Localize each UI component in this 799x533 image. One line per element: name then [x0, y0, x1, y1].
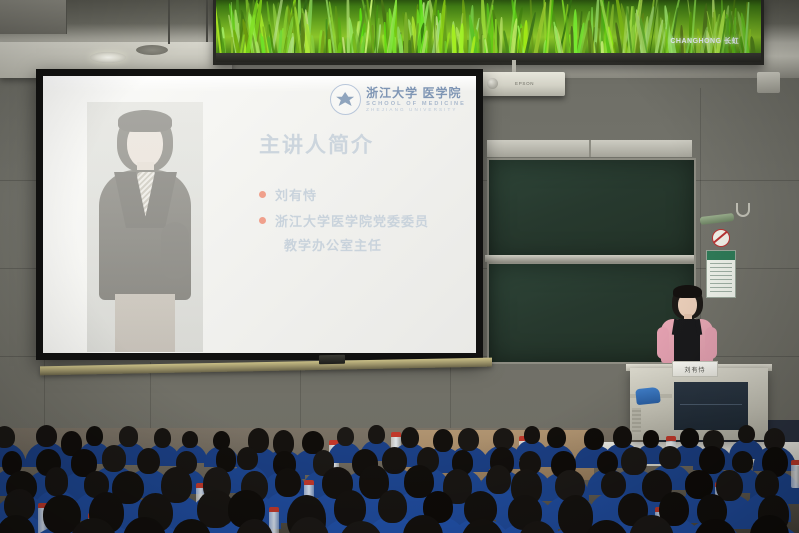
water-bottle — [791, 464, 799, 489]
blackboard-upper — [487, 158, 696, 262]
grass-blade — [346, 0, 350, 53]
speaker-portrait-photo — [87, 102, 203, 352]
audience-member-head — [433, 429, 453, 453]
portrait-washout-overlay — [87, 102, 203, 352]
wall-speaker — [757, 72, 780, 93]
name-card-text: 刘有恃 — [684, 365, 705, 374]
bullet-dot-icon — [259, 217, 266, 224]
slide-title: 主讲人简介 — [259, 129, 374, 159]
audience-member-head — [119, 426, 139, 447]
audience-member-head — [154, 428, 171, 448]
audience-member-head — [613, 426, 633, 449]
projector-brand-label: EPSON — [515, 81, 534, 86]
bottle-cap — [791, 460, 799, 465]
tv-brand-label: CHANGHONG 长虹 — [670, 36, 739, 46]
board-divider — [589, 140, 591, 157]
ceiling-duct — [0, 0, 67, 34]
presenter-fringe — [673, 285, 702, 298]
audience-member-head — [524, 426, 540, 444]
wall-hook-icon — [736, 203, 750, 217]
grass-blade — [428, 19, 432, 53]
slide-bullet-1: 刘有恃 — [259, 186, 317, 205]
grass-blade — [444, 41, 447, 53]
presentation-slide[interactable]: 浙江大学 医学院 SCHOOL OF MEDICINE ZHEJIANG UNI… — [43, 76, 476, 353]
audience-member-head — [755, 470, 779, 498]
blackboard-eraser — [319, 355, 345, 364]
podium-screen-line — [680, 404, 742, 405]
notice-board-header — [707, 251, 735, 260]
audience-member-head — [659, 446, 682, 470]
blackboard-rail — [485, 255, 694, 262]
slide-bullet-text: 教学办公室主任 — [284, 236, 382, 255]
audience-member-head — [137, 448, 160, 475]
audience-member-head — [86, 426, 103, 446]
zju-emblem-icon — [330, 84, 361, 115]
ceiling-rod — [206, 0, 208, 42]
audience-member-head — [401, 427, 419, 449]
zju-emblem-glyph — [336, 92, 354, 106]
audience-member-head — [45, 467, 69, 496]
audience-member-head — [36, 425, 57, 447]
audience-member-head — [584, 428, 604, 449]
audience-member-head — [547, 427, 566, 448]
audience-member-head — [643, 430, 660, 448]
audience-member-head — [378, 490, 407, 523]
zju-school-of-medicine-logo: 浙江大学 医学院 SCHOOL OF MEDICINE ZHEJIANG UNI… — [330, 84, 466, 115]
audience-member-head — [732, 451, 753, 473]
audience-member-head — [382, 447, 407, 474]
slide-bullet-2: 浙江大学医学院党委委员 — [259, 212, 429, 231]
audience-member-head — [458, 428, 478, 451]
grass-blade — [494, 19, 496, 53]
logo-chinese-text: 浙江大学 医学院 — [366, 87, 466, 100]
audience-member-head — [621, 447, 647, 474]
bottle-cap — [391, 432, 401, 437]
grass-blade — [404, 12, 408, 53]
audience-member-head — [237, 447, 258, 470]
slide-bullet-3: 教学办公室主任 — [284, 236, 382, 255]
slide-bullet-text: 刘有恃 — [275, 186, 317, 205]
audience-member-head — [102, 445, 127, 471]
audience-member-head — [486, 465, 510, 495]
bottle-cap — [269, 507, 279, 512]
bullet-dot-icon — [259, 191, 266, 198]
bottle-cap — [304, 480, 314, 485]
wall-television: CHANGHONG 长虹 — [213, 0, 764, 65]
blue-bag — [635, 387, 661, 405]
logo-english-line1: SCHOOL OF MEDICINE — [366, 101, 466, 107]
projector-lens-icon — [487, 78, 498, 89]
podium-name-card: 刘有恃 — [672, 361, 718, 377]
logo-english-line2: ZHEJIANG UNIVERSITY — [366, 107, 466, 112]
tv-bezel — [216, 53, 761, 62]
audience-member-head — [182, 431, 198, 448]
audience-rows — [0, 410, 799, 533]
ceiling-rod — [168, 0, 170, 44]
audience-member-head — [275, 468, 302, 497]
audience-member-head — [368, 425, 384, 444]
presenter-arm-left — [657, 327, 669, 359]
grass-blade — [408, 40, 412, 53]
slide-bullet-text: 浙江大学医学院党委委员 — [275, 212, 429, 231]
downlight-icon — [90, 52, 126, 63]
downlight-icon — [136, 45, 168, 55]
audience-member-head — [337, 427, 354, 446]
audience-member-head — [558, 495, 593, 533]
ceiling-projector: EPSON — [481, 72, 565, 96]
lecture-hall-scene: CHANGHONG 长虹 4K Ultra HD EPSON — [0, 0, 799, 533]
audience-member-head — [601, 471, 626, 499]
grass-blade — [750, 36, 757, 53]
no-smoking-icon — [712, 229, 730, 247]
presenter-arm-right — [705, 327, 717, 359]
audience-member-head — [738, 425, 755, 443]
bottle-cap — [666, 436, 676, 441]
audience-member-head — [680, 428, 700, 448]
